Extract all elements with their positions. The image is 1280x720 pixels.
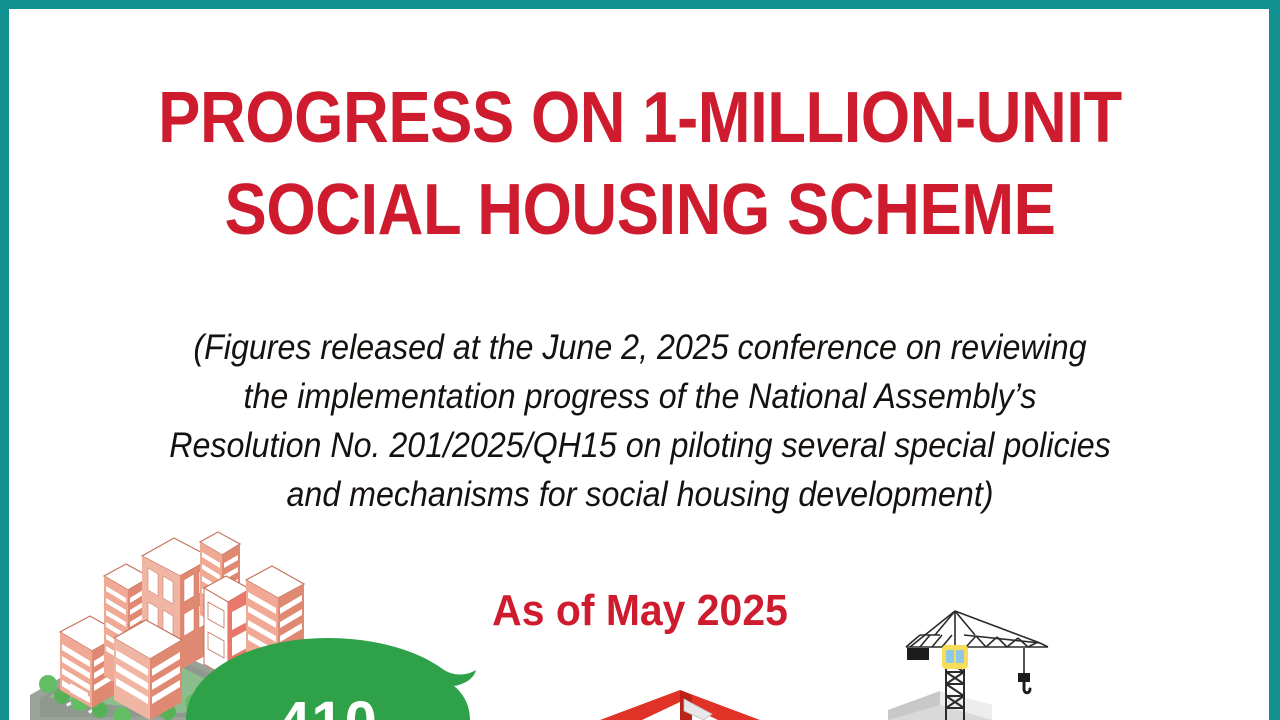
border-right (1269, 0, 1280, 720)
crane-concrete-slab (888, 691, 992, 720)
page-title-line-2: SOCIAL HOUSING SCHEME (77, 164, 1203, 256)
subtitle-line-1: (Figures released at the June 2, 2025 co… (152, 323, 1127, 372)
subtitle-block: (Figures released at the June 2, 2025 co… (152, 323, 1127, 519)
subtitle-line-4: and mechanisms for social housing develo… (152, 470, 1127, 519)
green-bubble-value: 410 (178, 694, 478, 720)
border-left (0, 0, 9, 720)
crane-operator-cab (942, 645, 968, 669)
border-top (0, 0, 1280, 9)
crane-counterweight (907, 648, 929, 660)
red-house-roof-icon (600, 690, 760, 720)
page-title-line-1: PROGRESS ON 1-MILLION-UNIT (77, 72, 1203, 164)
as-of-date-label: As of May 2025 (398, 585, 882, 637)
infographic-canvas: PROGRESS ON 1-MILLION-UNIT SOCIAL HOUSIN… (0, 0, 1280, 720)
subtitle-line-3: Resolution No. 201/2025/QH15 on piloting… (152, 421, 1127, 470)
page-title: PROGRESS ON 1-MILLION-UNIT SOCIAL HOUSIN… (77, 72, 1203, 256)
crane-hook (1018, 648, 1030, 693)
subtitle-line-2: the implementation progress of the Natio… (152, 372, 1127, 421)
construction-crane-icon (880, 605, 1140, 720)
city-building-g (114, 620, 182, 720)
